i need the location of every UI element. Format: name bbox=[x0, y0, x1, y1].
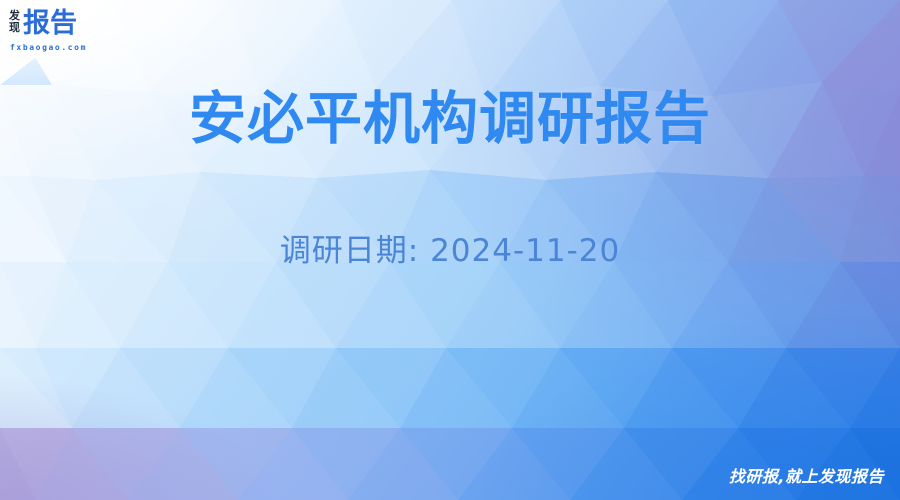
footer-tagline: 找研报,就上发现报告 bbox=[729, 466, 884, 488]
logo-wordmark: 报告 bbox=[23, 9, 77, 38]
report-cover-slide: 发 现 报告 fxbaogao.com 安必平机构调研报告 调研日期: 2024… bbox=[0, 0, 900, 500]
survey-date-subtitle: 调研日期: 2024-11-20 bbox=[0, 228, 900, 274]
page-title: 安必平机构调研报告 bbox=[0, 84, 900, 154]
logo-wordmark-row: 发 现 报告 bbox=[9, 9, 129, 41]
logo-mark-stacked: 发 现 bbox=[9, 9, 20, 34]
logo-url: fxbaogao.com bbox=[9, 43, 129, 53]
logo-mark-char-bottom: 现 bbox=[9, 22, 20, 34]
brand-logo[interactable]: 发 现 报告 fxbaogao.com bbox=[9, 9, 129, 55]
